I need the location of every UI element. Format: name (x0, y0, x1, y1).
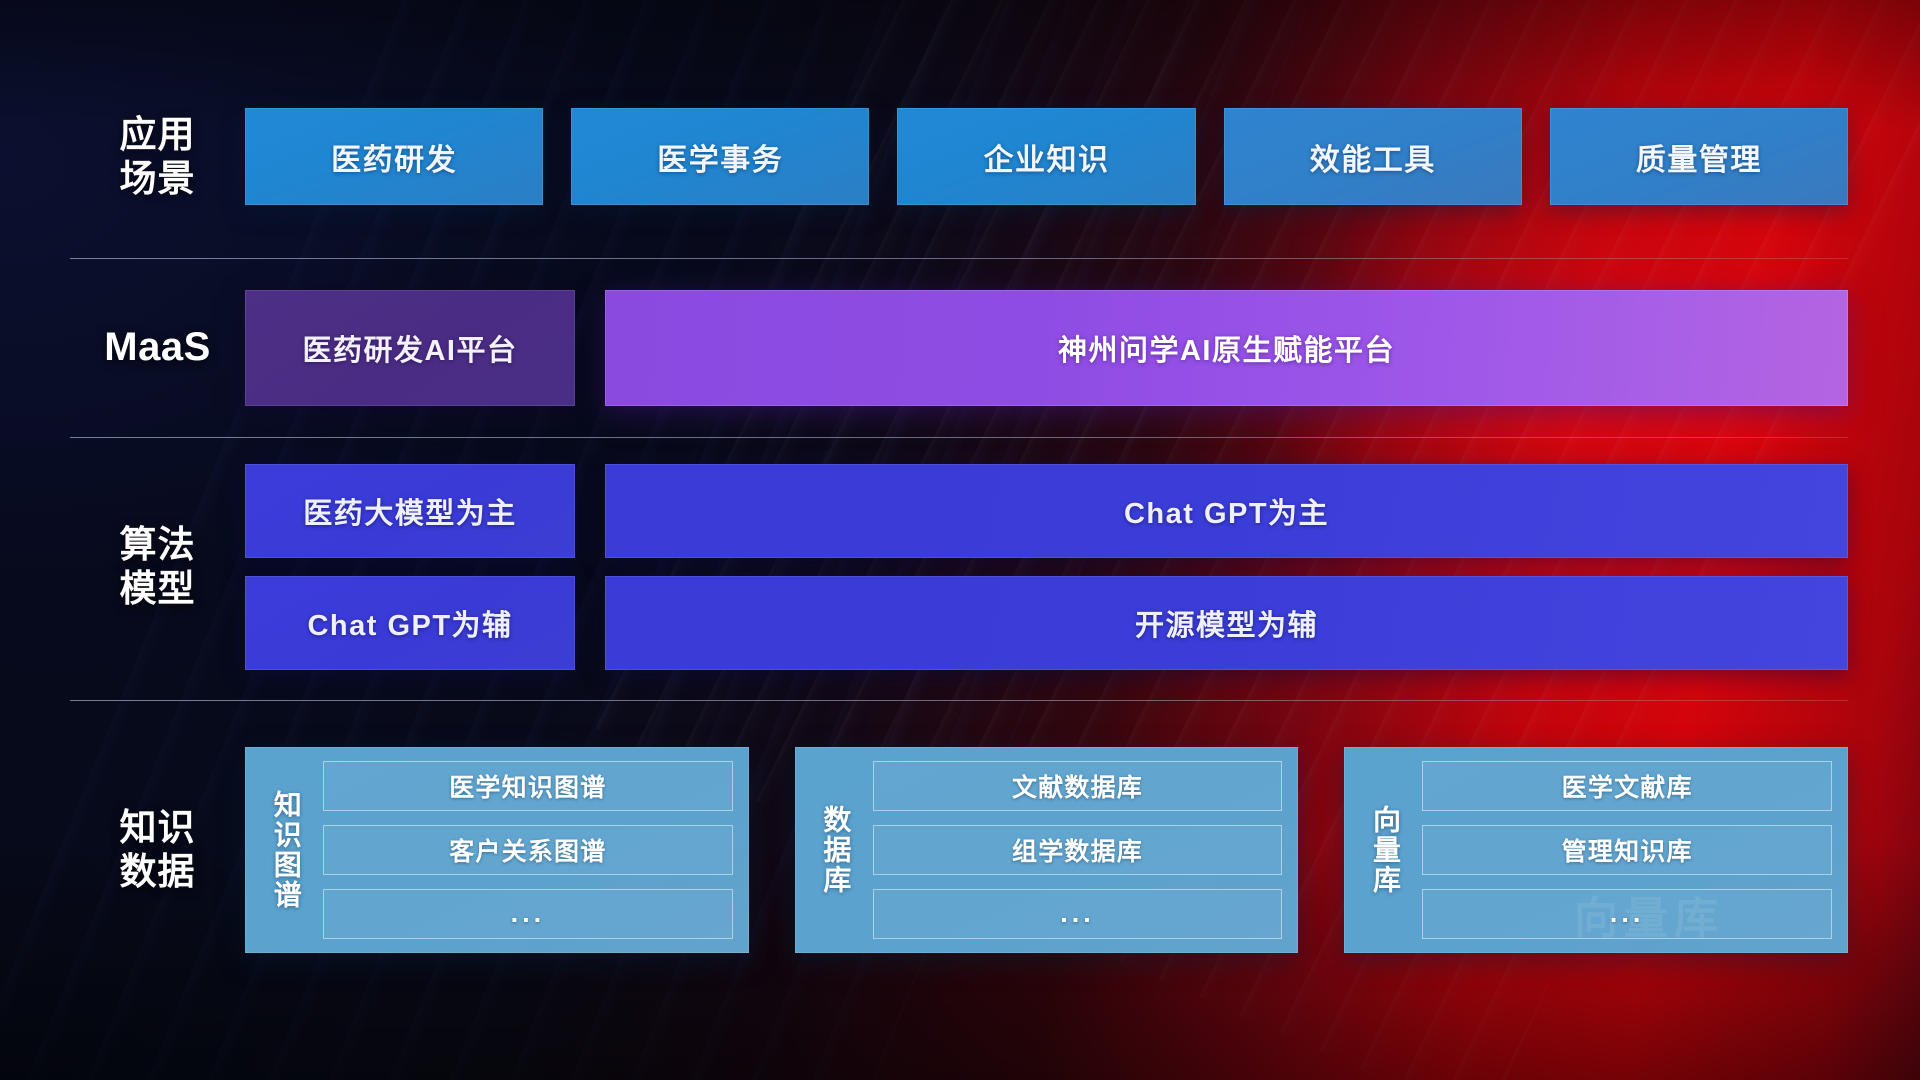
knowledge-group-list: 知识图谱 医学知识图谱 客户关系图谱 ... 数据库 文献数据库 组学数据库 .… (245, 747, 1848, 953)
algorithm-line-primary: 医药大模型为主 Chat GPT为主 (245, 464, 1848, 558)
row-label-line-2: 数据 (70, 850, 245, 894)
app-card-drug-rd[interactable]: 医药研发 (245, 108, 543, 205)
knowledge-item-medical-knowledge-graph[interactable]: 医学知识图谱 (323, 761, 733, 811)
knowledge-item-management-knowledge-store[interactable]: 管理知识库 (1422, 825, 1832, 875)
algo-card-pharma-llm-primary[interactable]: 医药大模型为主 (245, 464, 575, 558)
row-label-line-1: 知识 (70, 806, 245, 850)
row-label-line-1: 算法 (70, 523, 245, 567)
knowledge-item-medical-literature-store[interactable]: 医学文献库 (1422, 761, 1832, 811)
divider-maas-algorithm (70, 437, 1848, 438)
row-label-line-2: 模型 (70, 567, 245, 611)
maas-card-list: 医药研发AI平台 神州问学AI原生赋能平台 (245, 290, 1848, 406)
row-body-application-scenarios: 医药研发 医学事务 企业知识 效能工具 质量管理 (245, 108, 1848, 205)
app-card-efficiency-tools[interactable]: 效能工具 (1224, 108, 1522, 205)
knowledge-item-omics-database[interactable]: 组学数据库 (873, 825, 1283, 875)
divider-algorithm-knowledge (70, 700, 1848, 701)
maas-card-shenzhou-wenxue-platform[interactable]: 神州问学AI原生赋能平台 (605, 290, 1848, 406)
knowledge-item-list: 文献数据库 组学数据库 ... (867, 761, 1283, 939)
row-label-maas: MaaS (70, 324, 245, 371)
knowledge-group-title-database: 数据库 (805, 761, 867, 939)
row-label-line-1: 应用 (70, 113, 245, 157)
architecture-diagram: 应用 场景 医药研发 医学事务 企业知识 效能工具 质量管理 MaaS 医药研发… (0, 0, 1920, 1080)
row-knowledge-data: 知识 数据 知识图谱 医学知识图谱 客户关系图谱 ... 数据库 (70, 728, 1848, 971)
row-body-algorithm-models: 医药大模型为主 Chat GPT为主 Chat GPT为辅 开源模型为辅 (245, 464, 1848, 670)
divider-application-maas (70, 258, 1848, 259)
knowledge-group-knowledge-graph: 知识图谱 医学知识图谱 客户关系图谱 ... (245, 747, 749, 953)
row-algorithm-models: 算法 模型 医药大模型为主 Chat GPT为主 Chat GPT为辅 开源模型… (70, 464, 1848, 670)
knowledge-group-database: 数据库 文献数据库 组学数据库 ... (795, 747, 1299, 953)
app-card-enterprise-knowledge[interactable]: 企业知识 (897, 108, 1195, 205)
knowledge-group-vector-store: 向量库 医学文献库 管理知识库 ... (1344, 747, 1848, 953)
knowledge-item-list: 医学文献库 管理知识库 ... (1416, 761, 1832, 939)
algo-card-opensource-secondary[interactable]: 开源模型为辅 (605, 576, 1848, 670)
knowledge-item-more[interactable]: ... (1422, 889, 1832, 939)
knowledge-item-more[interactable]: ... (323, 889, 733, 939)
knowledge-group-title-knowledge-graph: 知识图谱 (255, 761, 317, 939)
knowledge-group-title-vector-store: 向量库 (1354, 761, 1416, 939)
app-card-medical-affairs[interactable]: 医学事务 (571, 108, 869, 205)
algo-card-chatgpt-primary[interactable]: Chat GPT为主 (605, 464, 1848, 558)
app-card-quality-management[interactable]: 质量管理 (1550, 108, 1848, 205)
row-body-maas: 医药研发AI平台 神州问学AI原生赋能平台 (245, 290, 1848, 406)
row-application-scenarios: 应用 场景 医药研发 医学事务 企业知识 效能工具 质量管理 (70, 108, 1848, 205)
maas-card-drug-rd-ai-platform[interactable]: 医药研发AI平台 (245, 290, 575, 406)
slide-canvas: 应用 场景 医药研发 医学事务 企业知识 效能工具 质量管理 MaaS 医药研发… (0, 0, 1920, 1080)
row-maas: MaaS 医药研发AI平台 神州问学AI原生赋能平台 (70, 290, 1848, 406)
knowledge-item-customer-relation-graph[interactable]: 客户关系图谱 (323, 825, 733, 875)
knowledge-item-list: 医学知识图谱 客户关系图谱 ... (317, 761, 733, 939)
row-body-knowledge-data: 知识图谱 医学知识图谱 客户关系图谱 ... 数据库 文献数据库 组学数据库 .… (245, 747, 1848, 953)
row-label-knowledge-data: 知识 数据 (70, 806, 245, 893)
algorithm-line-secondary: Chat GPT为辅 开源模型为辅 (245, 576, 1848, 670)
row-label-algorithm-models: 算法 模型 (70, 523, 245, 610)
knowledge-item-literature-database[interactable]: 文献数据库 (873, 761, 1283, 811)
row-label-line-2: 场景 (70, 157, 245, 201)
row-label-application-scenarios: 应用 场景 (70, 113, 245, 200)
knowledge-item-more[interactable]: ... (873, 889, 1283, 939)
application-card-list: 医药研发 医学事务 企业知识 效能工具 质量管理 (245, 108, 1848, 205)
algo-card-chatgpt-secondary[interactable]: Chat GPT为辅 (245, 576, 575, 670)
